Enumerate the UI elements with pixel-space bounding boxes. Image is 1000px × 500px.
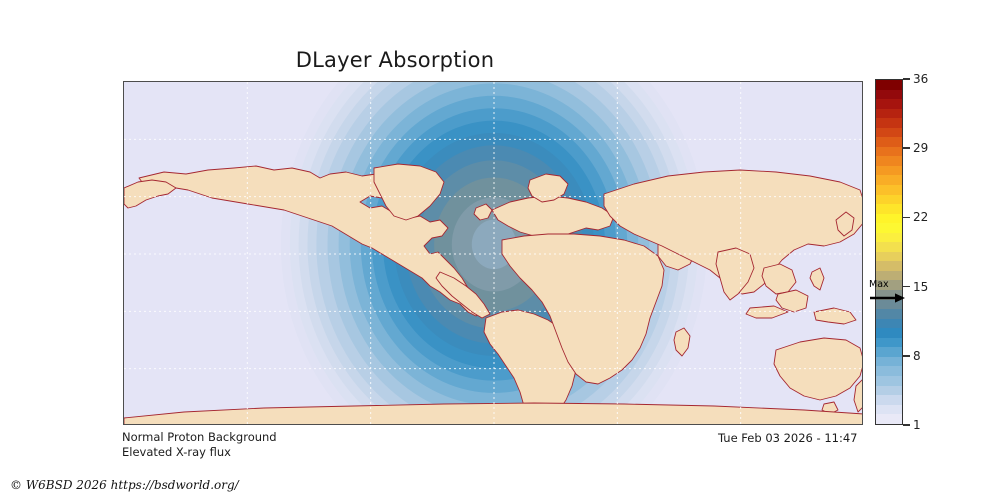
colorbar-axis-label: Affected Frequency (MHz)	[925, 79, 1000, 425]
tick-mark	[903, 424, 910, 426]
colorbar-segment	[876, 357, 902, 367]
colorbar-segment	[876, 90, 902, 100]
colorbar-segment	[876, 156, 902, 166]
tick-mark	[903, 217, 910, 219]
note-proton-background: Normal Proton Background	[122, 430, 277, 444]
map-svg	[124, 82, 863, 425]
colorbar-segment	[876, 109, 902, 119]
colorbar-segment	[876, 405, 902, 415]
colorbar-segment	[876, 128, 902, 138]
page-title: DLayer Absorption	[0, 48, 790, 72]
colorbar-segment	[876, 376, 902, 386]
tick-mark	[903, 147, 910, 149]
colorbar-segment	[876, 185, 902, 195]
colorbar-segment	[876, 319, 902, 329]
note-xray-flux: Elevated X-ray flux	[122, 445, 231, 459]
colorbar-segment	[876, 80, 902, 90]
colorbar-segment	[876, 347, 902, 357]
colorbar-segment	[876, 147, 902, 157]
colorbar-tick: 8	[903, 349, 921, 363]
colorbar-segment	[876, 137, 902, 147]
colorbar-segment	[876, 118, 902, 128]
colorbar-tick: 1	[903, 418, 921, 432]
timestamp: Tue Feb 03 2026 - 11:47	[718, 431, 857, 445]
colorbar-segment	[876, 309, 902, 319]
colorbar-segment	[876, 395, 902, 405]
colorbar-segment	[876, 261, 902, 271]
colorbar-segment	[876, 338, 902, 348]
colorbar-segment	[876, 252, 902, 262]
colorbar-segment	[876, 204, 902, 214]
colorbar-segment	[876, 195, 902, 205]
colorbar[interactable]	[875, 79, 903, 425]
colorbar-segment	[876, 214, 902, 224]
colorbar-max-annotation: Max	[869, 280, 913, 290]
credit-line: © W6BSD 2026 https://bsdworld.org/	[10, 478, 239, 492]
colorbar-segment	[876, 233, 902, 243]
colorbar-segment	[876, 328, 902, 338]
tick-label: 1	[913, 418, 921, 432]
tick-label: 8	[913, 349, 921, 363]
max-arrow-icon	[869, 293, 905, 303]
tick-mark	[903, 355, 910, 357]
colorbar-segment	[876, 414, 902, 424]
colorbar-segment	[876, 366, 902, 376]
colorbar-segment	[876, 223, 902, 233]
colorbar-segment	[876, 242, 902, 252]
colorbar-segment	[876, 166, 902, 176]
world-map-panel[interactable]	[123, 81, 863, 425]
tick-mark	[903, 78, 910, 80]
colorbar-segment	[876, 175, 902, 185]
colorbar-segment	[876, 99, 902, 109]
colorbar-segment	[876, 386, 902, 396]
